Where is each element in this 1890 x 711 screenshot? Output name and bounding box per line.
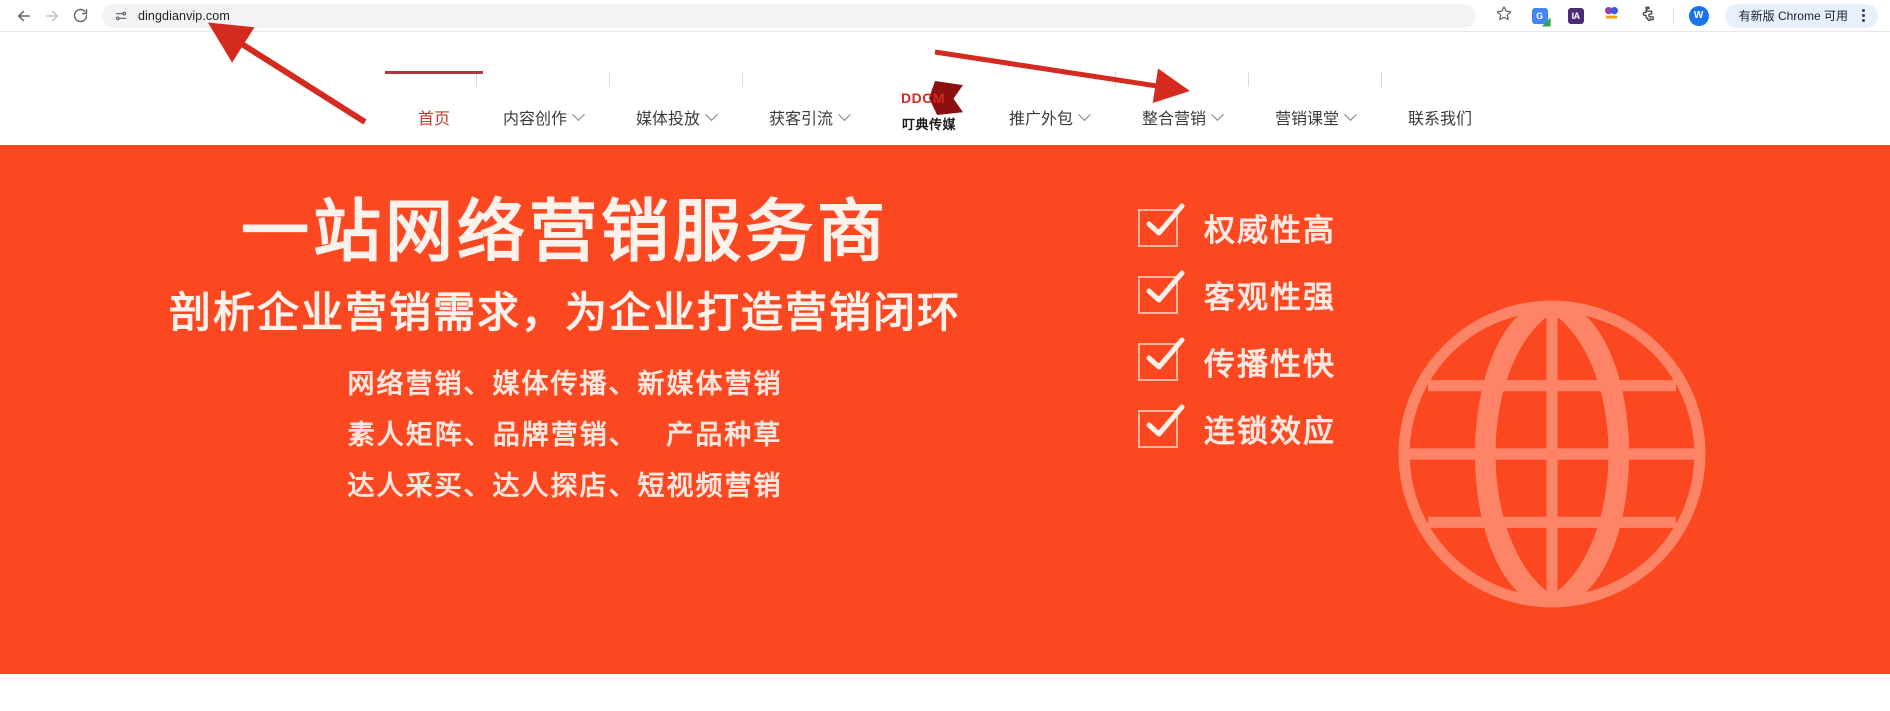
nav-item-label: 首页 [418,105,450,129]
chevron-down-icon [1344,108,1357,121]
page-bottom-whitespace [0,674,1890,711]
list-item: 客观性强 [1138,272,1336,317]
three-dot-menu-icon[interactable] [1852,5,1874,27]
nav-divider [476,72,477,87]
active-tab-underline [385,71,483,74]
bookmark-button[interactable] [1489,2,1519,30]
nav-item-integrated-marketing[interactable]: 整合营销 [1116,105,1248,129]
chevron-down-icon [1078,108,1091,121]
star-icon [1496,5,1512,26]
logo-name-text: 叮典传媒 [902,114,956,133]
checkbox-checked-icon [1138,410,1178,448]
checkbox-checked-icon [1138,343,1178,381]
logo-mark-text: DDCM [901,90,945,106]
nav-item-label: 营销课堂 [1275,105,1339,129]
nav-divider [742,72,743,87]
puzzle-extensions-icon [1639,5,1656,27]
nav-item-label: 整合营销 [1142,105,1206,129]
feature-label: 权威性高 [1204,205,1336,250]
address-bar[interactable]: dingdianvip.com [102,4,1476,28]
extensions-menu-button[interactable] [1633,2,1663,30]
logo-mark-icon: DDCM [897,83,961,113]
forward-arrow-icon [43,7,61,25]
list-item: 权威性高 [1138,205,1336,250]
hero-subtitle: 剖析企业营销需求，为企业打造营销闭环 [0,279,1130,340]
checkbox-checked-icon [1138,209,1178,247]
extension-google-translate-button[interactable]: G [1525,2,1555,30]
list-item: 传播性快 [1138,339,1336,384]
nav-item-label: 媒体投放 [636,105,700,129]
extension-ia-button[interactable]: IA [1561,2,1591,30]
globe-icon [1393,295,1711,613]
nav-item-label: 联系我们 [1408,105,1472,129]
reload-button[interactable] [66,2,94,30]
nav-item-marketing-classroom[interactable]: 营销课堂 [1249,105,1381,129]
nav-item-contact-us[interactable]: 联系我们 [1382,105,1498,129]
nav-divider [1115,72,1116,87]
colorful-extension-icon [1603,5,1620,27]
hero-feature-list: 权威性高 客观性强 传播性快 [1138,205,1336,451]
nav-item-label: 获客引流 [769,105,833,129]
back-arrow-icon [15,7,33,25]
nav-divider [1381,72,1382,87]
nav-item-label: 内容创作 [503,105,567,129]
nav-item-home[interactable]: 首页 [392,105,476,129]
feature-label: 连锁效应 [1204,406,1336,451]
back-button[interactable] [10,2,38,30]
url-text: dingdianvip.com [138,9,230,23]
nav-item-media-placement[interactable]: 媒体投放 [610,105,742,129]
feature-label: 传播性快 [1204,339,1336,384]
site-header: 首页 内容创作 媒体投放 获客引流 DDCM 叮典传媒 推广外包 [0,32,1890,145]
browser-toolbar: dingdianvip.com G IA [0,0,1890,32]
feature-label: 客观性强 [1204,272,1336,317]
chevron-down-icon [838,108,851,121]
hero-service-line: 素人矩阵、品牌营销、 产品种草 [348,413,783,452]
hero-title: 一站网络营销服务商 [0,193,1130,271]
toolbar-divider [1673,8,1674,24]
avatar: W [1689,6,1709,26]
chevron-down-icon [572,108,585,121]
reload-icon [72,7,89,24]
nav-item-content-creation[interactable]: 内容创作 [477,105,609,129]
google-translate-extension-icon: G [1532,8,1548,24]
hero-banner: 一站网络营销服务商 剖析企业营销需求，为企业打造营销闭环 网络营销、媒体传播、新… [0,145,1890,674]
site-settings-icon[interactable] [114,9,128,23]
chrome-update-button[interactable]: 有新版 Chrome 可用 [1725,4,1878,28]
nav-item-customer-acquisition[interactable]: 获客引流 [743,105,875,129]
hero-service-line: 达人采买、达人探店、短视频营销 [348,464,783,503]
hero-service-lines: 网络营销、媒体传播、新媒体营销 素人矩阵、品牌营销、 产品种草 达人采买、达人探… [0,362,1130,503]
ia-extension-icon: IA [1568,8,1584,24]
main-navigation: 首页 内容创作 媒体投放 获客引流 DDCM 叮典传媒 推广外包 [392,32,1498,145]
profile-button[interactable]: W [1684,2,1714,30]
hero-text-block: 一站网络营销服务商 剖析企业营销需求，为企业打造营销闭环 网络营销、媒体传播、新… [0,145,1130,503]
nav-item-label: 推广外包 [1009,105,1073,129]
nav-divider [609,72,610,87]
chevron-down-icon [705,108,718,121]
extension-colorful-button[interactable] [1597,2,1627,30]
chevron-down-icon [1211,108,1224,121]
hero-service-line: 网络营销、媒体传播、新媒体营销 [348,362,783,401]
nav-divider [1248,72,1249,87]
forward-button[interactable] [38,2,66,30]
site-logo[interactable]: DDCM 叮典传媒 [875,83,983,133]
toolbar-right-group: G IA W 有新版 Ch [1486,2,1880,30]
checkbox-checked-icon [1138,276,1178,314]
list-item: 连锁效应 [1138,406,1336,451]
chrome-update-label: 有新版 Chrome 可用 [1739,7,1848,24]
nav-item-promotion-outsourcing[interactable]: 推广外包 [983,105,1115,129]
